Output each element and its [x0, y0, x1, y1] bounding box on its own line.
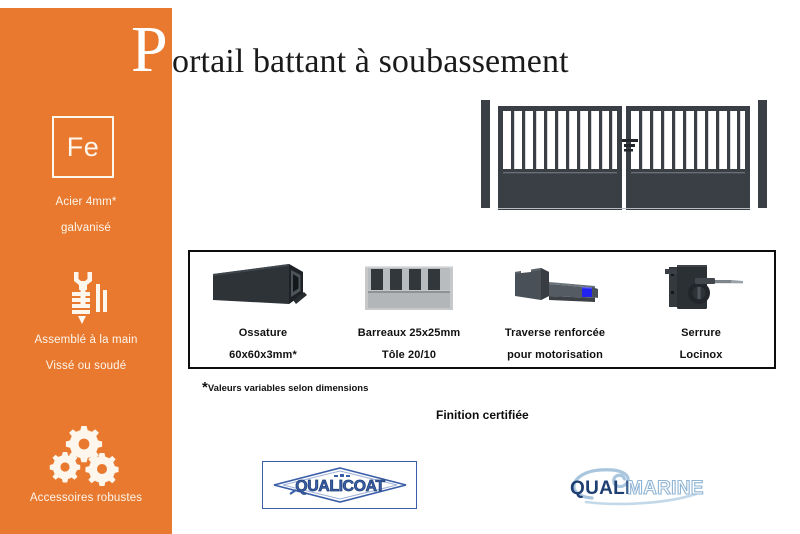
page-title: ortail battant à soubassement — [172, 45, 569, 79]
sidebar-item-0-label-1: Acier 4mm* — [0, 196, 172, 208]
product-sheet-page: Fe Acier 4mm* galvanisé Ass — [0, 0, 800, 534]
reinforced-crossbar-icon — [499, 258, 611, 318]
feature-item-barreaux-line2: Tôle 20/10 — [382, 349, 436, 362]
feature-item-barreaux-line1: Barreaux 25x25mm — [358, 327, 461, 340]
footnote-text: Valeurs variables selon dimensions — [208, 383, 369, 394]
qualicoat-logo-text: QUALICOAT — [295, 478, 385, 495]
feature-item-traverse-line1: Traverse renforcée — [505, 327, 605, 340]
material-symbol-label: Fe — [67, 132, 100, 163]
feature-item-ossature: Ossature 60x60x3mm* — [190, 252, 336, 367]
wrench-tools-icon — [0, 270, 172, 326]
feature-item-ossature-line2: 60x60x3mm* — [229, 349, 297, 362]
footnote: *Valeurs variables selon dimensions — [202, 383, 368, 394]
page-title-initial: P — [131, 17, 168, 83]
qualimarine-logo: QUALI MARINE — [556, 462, 706, 508]
sidebar-item-1-label-2: Vissé ou soudé — [0, 360, 172, 372]
feature-item-serrure-line1: Serrure — [681, 327, 721, 340]
features-panel: Ossature 60x60x3mm* — [188, 250, 776, 369]
bar-panel-icon — [359, 258, 459, 318]
qualimarine-logo-text-marine: MARINE — [627, 478, 704, 499]
feature-item-barreaux: Barreaux 25x25mm Tôle 20/10 — [336, 252, 482, 367]
certification-heading: Finition certifiée — [436, 408, 529, 422]
feature-item-traverse-line2: pour motorisation — [507, 349, 603, 362]
feature-item-traverse: Traverse renforcée pour motorisation — [482, 252, 628, 367]
lock-icon — [651, 258, 751, 318]
feature-item-serrure-line2: Locinox — [680, 349, 723, 362]
feature-item-ossature-line1: Ossature — [239, 327, 288, 340]
sidebar-item-0-label-2: galvanisé — [0, 222, 172, 234]
feature-item-serrure: Serrure Locinox — [628, 252, 774, 367]
square-tube-profile-icon — [207, 258, 319, 318]
qualicoat-logo: QUALICOAT — [262, 461, 417, 509]
double-swing-gate-with-solid-base — [478, 92, 770, 216]
feature-sidebar: Fe Acier 4mm* galvanisé Ass — [0, 8, 172, 534]
gears-icon — [0, 426, 172, 486]
iron-element-icon: Fe — [52, 116, 114, 178]
sidebar-item-2-label-1: Accessoires robustes — [0, 492, 172, 504]
qualimarine-logo-text-quali: QUALI — [570, 478, 631, 499]
sidebar-item-1-label-1: Assemblé à la main — [0, 334, 172, 346]
